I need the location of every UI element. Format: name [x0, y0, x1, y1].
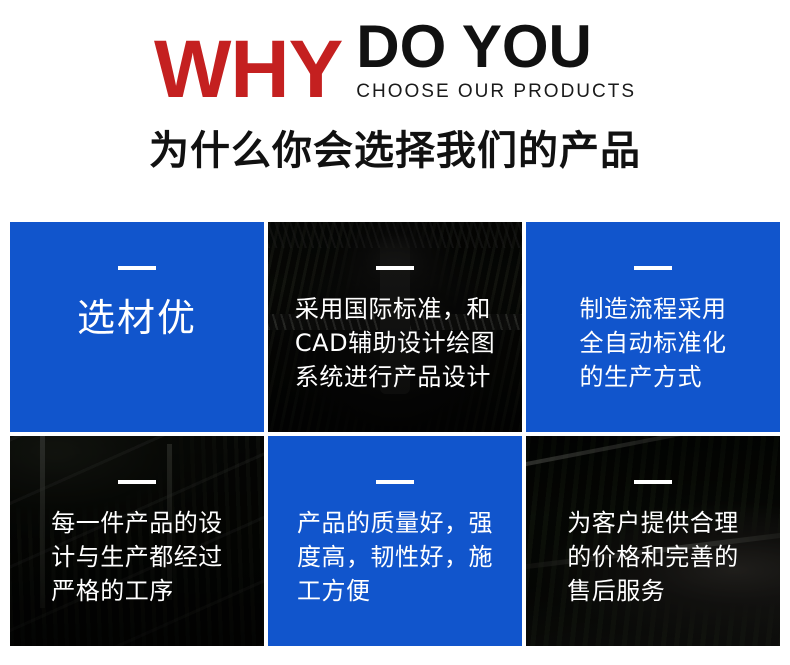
feature-card-3-text: 制造流程采用 全自动标准化 的生产方式: [566, 292, 741, 394]
feature-card-4-text: 每一件产品的设 计与生产都经过 严格的工序: [37, 506, 237, 608]
feature-card-4[interactable]: 每一件产品的设 计与生产都经过 严格的工序: [10, 436, 264, 646]
headline: WHY DO YOU CHOOSE OUR PRODUCTS: [0, 18, 790, 111]
feature-card-5-text: 产品的质量好，强 度高，韧性好，施 工方便: [283, 506, 507, 608]
feature-card-6[interactable]: 为客户提供合理 的价格和完善的 售后服务: [526, 436, 780, 646]
divider-dash-icon: [118, 266, 156, 270]
feature-grid: 选材优 采用国际标准，和 CAD辅助设计绘图 系统进行产品设计 制造流程采用 全…: [10, 222, 780, 646]
feature-card-2-text: 采用国际标准，和 CAD辅助设计绘图 系统进行产品设计: [281, 292, 509, 394]
subtitle-chinese: 为什么你会选择我们的产品: [0, 128, 790, 174]
headline-right-group: DO YOU CHOOSE OUR PRODUCTS: [356, 18, 636, 105]
headline-do-you: DO YOU: [356, 18, 636, 75]
feature-card-3[interactable]: 制造流程采用 全自动标准化 的生产方式: [526, 222, 780, 432]
divider-dash-icon: [634, 480, 672, 484]
card-content: 选材优: [10, 222, 264, 346]
divider-dash-icon: [634, 266, 672, 270]
divider-dash-icon: [376, 266, 414, 270]
card-content: 为客户提供合理 的价格和完善的 售后服务: [526, 436, 780, 608]
divider-dash-icon: [376, 480, 414, 484]
feature-card-1-text: 选材优: [63, 292, 211, 346]
header-banner: WHY DO YOU CHOOSE OUR PRODUCTS 为什么你会选择我们…: [0, 0, 790, 212]
card-content: 采用国际标准，和 CAD辅助设计绘图 系统进行产品设计: [268, 222, 522, 394]
feature-card-5[interactable]: 产品的质量好，强 度高，韧性好，施 工方便: [268, 436, 522, 646]
feature-card-1[interactable]: 选材优: [10, 222, 264, 432]
card-content: 每一件产品的设 计与生产都经过 严格的工序: [10, 436, 264, 608]
promo-page: WHY DO YOU CHOOSE OUR PRODUCTS 为什么你会选择我们…: [0, 0, 790, 665]
headline-why: WHY: [154, 24, 342, 115]
card-content: 制造流程采用 全自动标准化 的生产方式: [526, 222, 780, 394]
headline-choose-our-products: CHOOSE OUR PRODUCTS: [356, 79, 636, 105]
feature-card-6-text: 为客户提供合理 的价格和完善的 售后服务: [553, 506, 753, 608]
feature-card-2[interactable]: 采用国际标准，和 CAD辅助设计绘图 系统进行产品设计: [268, 222, 522, 432]
card-content: 产品的质量好，强 度高，韧性好，施 工方便: [268, 436, 522, 608]
headline-inner: WHY DO YOU CHOOSE OUR PRODUCTS: [154, 18, 636, 111]
divider-dash-icon: [118, 480, 156, 484]
